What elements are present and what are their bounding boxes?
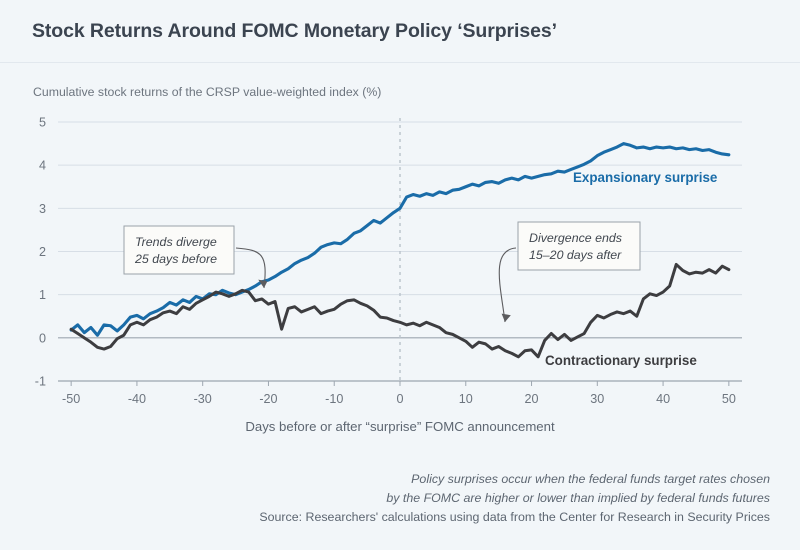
annotation-text-divergence-ends-line-1: Divergence ends	[529, 231, 622, 245]
x-tick-label-50: 50	[722, 392, 736, 406]
footnote: Policy surprises occur when the federal …	[0, 470, 770, 527]
y-tick-label-5: 5	[39, 116, 46, 130]
chart-figure: Stock Returns Around FOMC Monetary Polic…	[0, 0, 800, 550]
x-tick-label--50: -50	[62, 392, 80, 406]
footnote-line-2: by the FOMC are higher or lower than imp…	[0, 489, 770, 508]
series-label-expansionary: Expansionary surprise	[573, 170, 717, 185]
chart-plot-area: -1012345-50-40-30-20-1001020304050Expans…	[0, 0, 800, 550]
x-tick-label-30: 30	[590, 392, 604, 406]
y-tick-label-0: 0	[39, 331, 46, 345]
annotation-box-trends-diverge	[124, 226, 234, 274]
x-tick-label--30: -30	[194, 392, 212, 406]
annotation-arrow-divergence-ends	[499, 248, 516, 322]
annotation-text-trends-diverge-line-1: Trends diverge	[135, 235, 217, 249]
x-tick-label-0: 0	[396, 392, 403, 406]
footnote-source: Source: Researchers' calculations using …	[0, 508, 770, 527]
y-tick-label-1: 1	[39, 288, 46, 302]
series-label-contractionary: Contractionary surprise	[545, 353, 697, 368]
y-tick-label--1: -1	[35, 375, 46, 389]
y-tick-label-4: 4	[39, 159, 46, 173]
x-tick-label-10: 10	[459, 392, 473, 406]
x-tick-label--20: -20	[259, 392, 277, 406]
y-tick-label-2: 2	[39, 245, 46, 259]
annotation-text-trends-diverge-line-2: 25 days before	[134, 252, 217, 266]
x-tick-label--40: -40	[128, 392, 146, 406]
x-tick-label-40: 40	[656, 392, 670, 406]
x-tick-label--10: -10	[325, 392, 343, 406]
annotation-arrowhead-divergence-ends	[502, 314, 511, 322]
x-tick-label-20: 20	[525, 392, 539, 406]
y-tick-label-3: 3	[39, 202, 46, 216]
annotation-box-divergence-ends	[518, 222, 640, 270]
annotation-text-divergence-ends-line-2: 15–20 days after	[529, 248, 622, 262]
x-axis-title: Days before or after “surprise” FOMC ann…	[0, 419, 800, 434]
footnote-line-1: Policy surprises occur when the federal …	[0, 470, 770, 489]
